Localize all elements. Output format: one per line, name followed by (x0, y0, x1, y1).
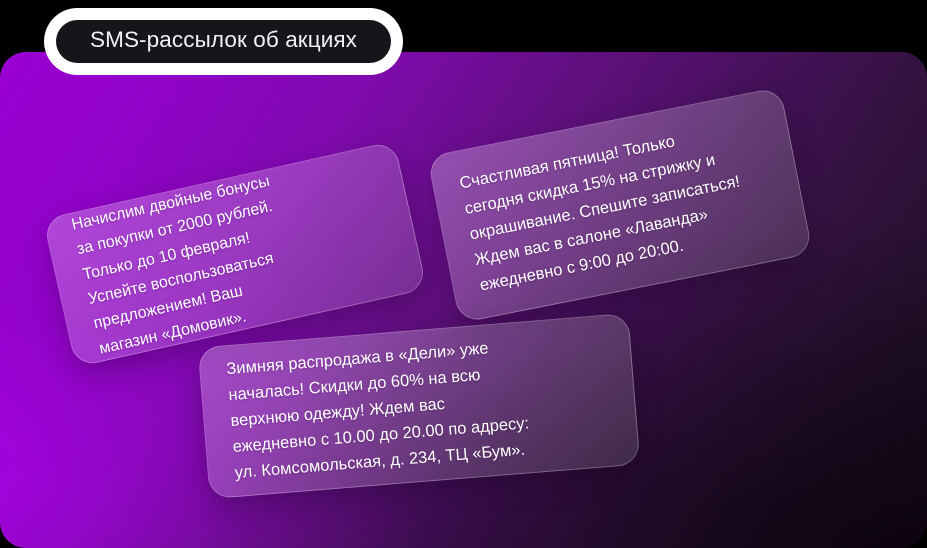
screenshot-root: Начислим двойные бонусы за покупки от 20… (0, 0, 927, 548)
title-badge-ring: SMS-рассылок об акциях (44, 8, 403, 75)
sms-card-3-text: Зимняя распродажа в «Дели» уже началась!… (225, 332, 532, 486)
page-title: SMS-рассылок об акциях (90, 29, 357, 52)
sms-card-2-text: Счастливая пятница! Только сегодня скидк… (457, 117, 752, 298)
title-badge: SMS-рассылок об акциях (56, 20, 391, 63)
